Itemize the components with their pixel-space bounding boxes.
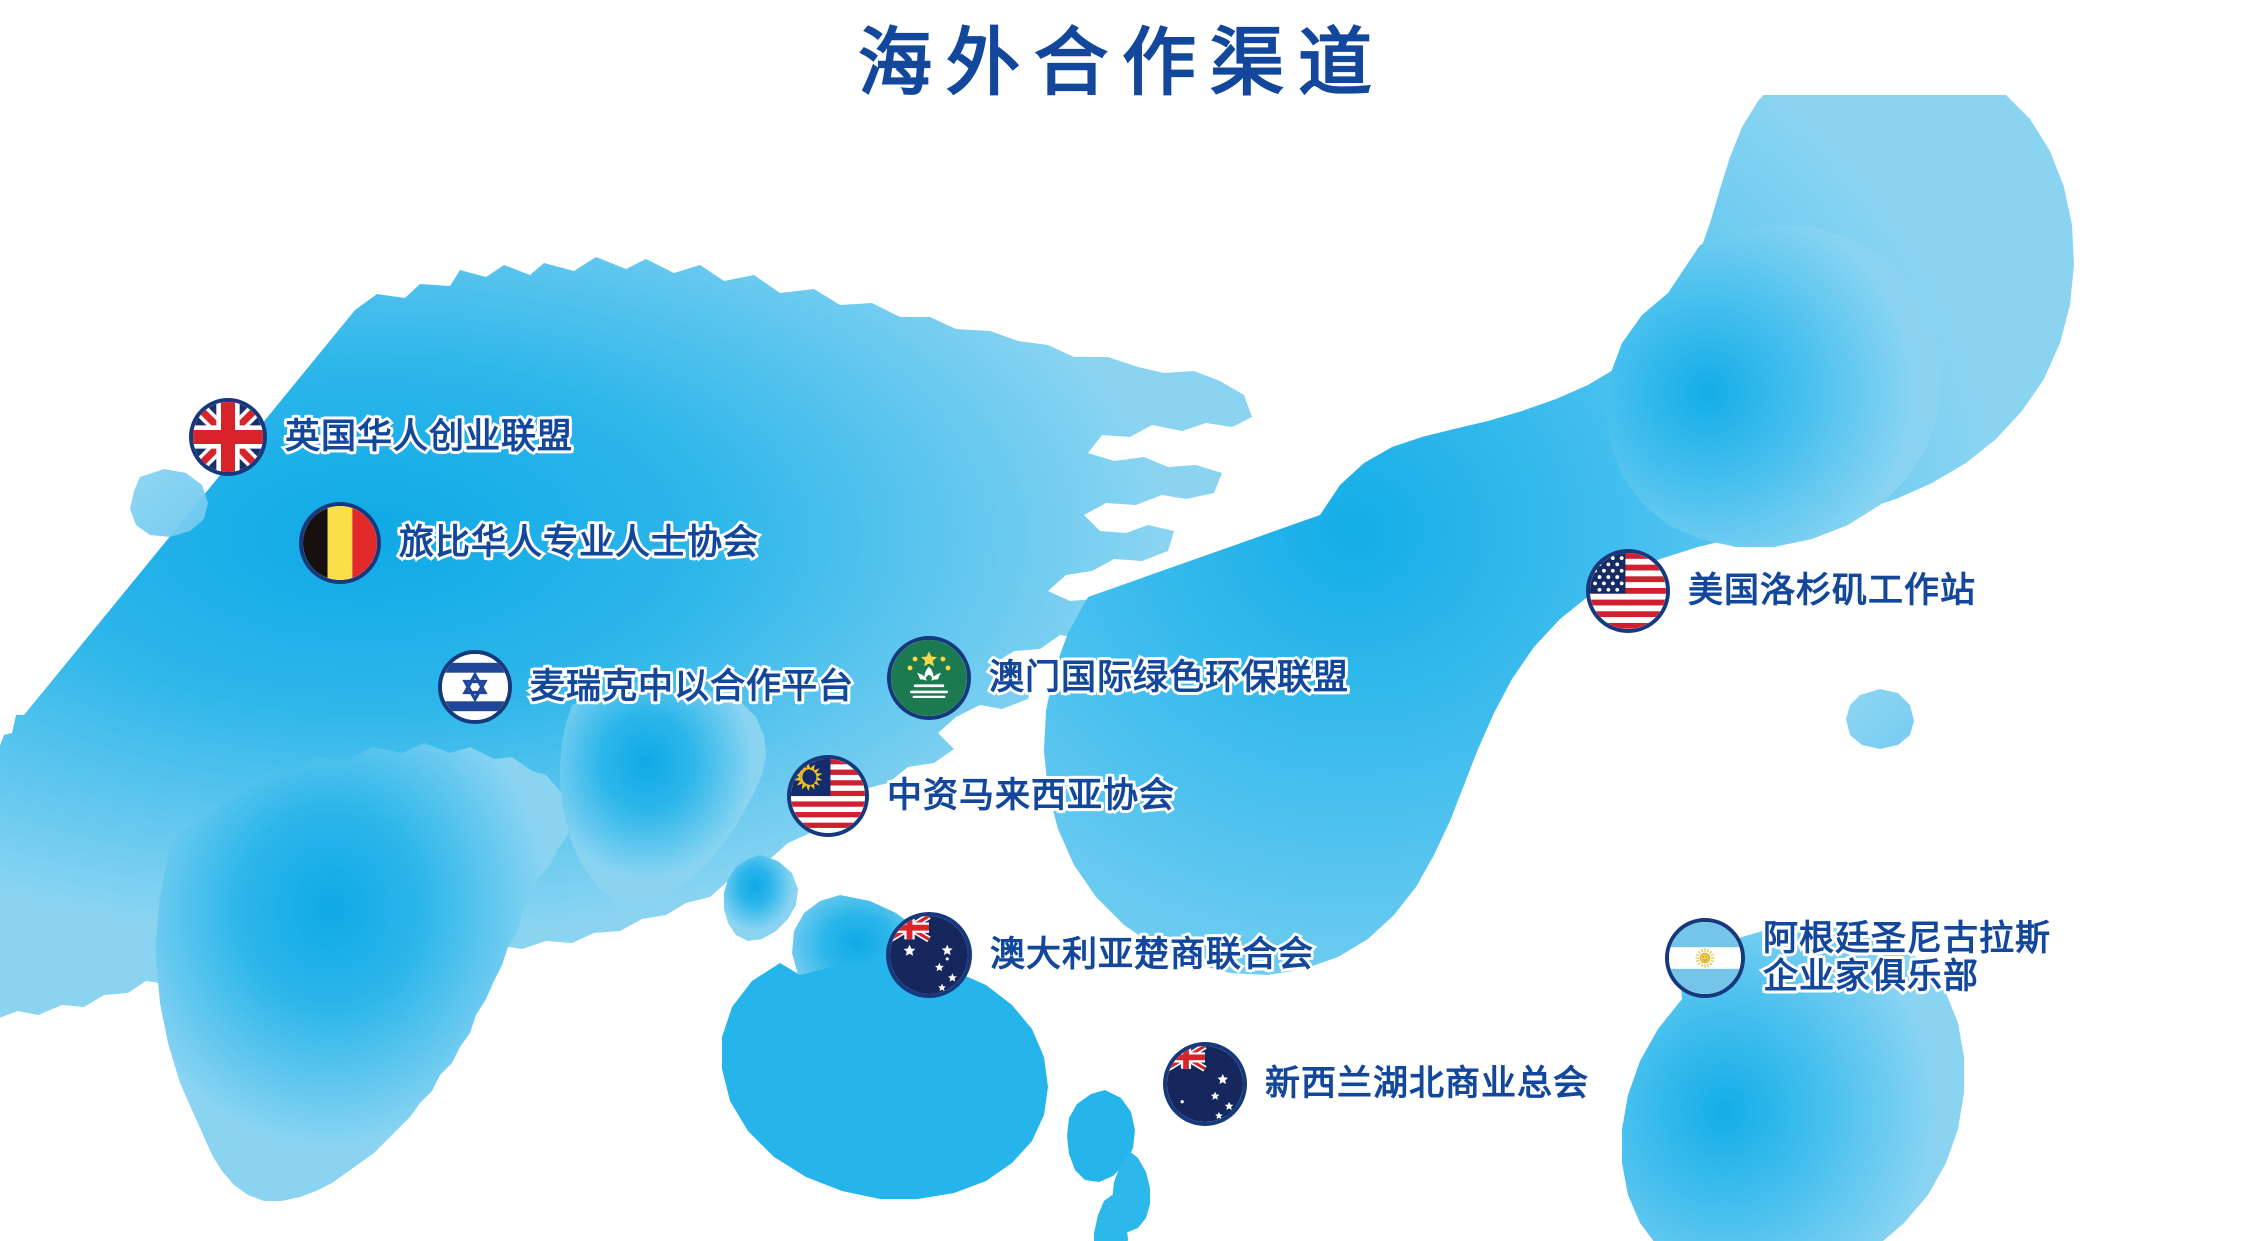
marker-label-belgium: 旅比华人专业人士协会 xyxy=(399,524,759,562)
marker-uk[interactable]: 英国华人创业联盟 xyxy=(189,398,573,476)
marker-label-uk: 英国华人创业联盟 xyxy=(285,418,573,456)
marker-macau[interactable]: 澳门国际绿色环保联盟 xyxy=(887,636,1349,720)
united-states-flag-icon xyxy=(1586,549,1670,633)
macau-flag-icon xyxy=(887,636,971,720)
malaysia-flag-icon xyxy=(787,755,869,837)
marker-label-usa: 美国洛杉矶工作站 xyxy=(1688,572,1976,610)
united-kingdom-flag-icon xyxy=(189,398,267,476)
marker-new-zealand[interactable]: 新西兰湖北商业总会 xyxy=(1163,1042,1589,1126)
marker-label-new-zealand: 新西兰湖北商业总会 xyxy=(1265,1065,1589,1103)
marker-belgium[interactable]: 旅比华人专业人士协会 xyxy=(299,502,759,584)
israel-flag-icon xyxy=(438,650,512,724)
marker-israel[interactable]: 麦瑞克中以合作平台 xyxy=(438,650,854,724)
marker-label-australia: 澳大利亚楚商联合会 xyxy=(990,936,1314,974)
marker-australia[interactable]: 澳大利亚楚商联合会 xyxy=(886,912,1314,998)
marker-usa[interactable]: 美国洛杉矶工作站 xyxy=(1586,549,1976,633)
marker-malaysia[interactable]: 中资马来西亚协会 xyxy=(787,755,1175,837)
marker-label-malaysia: 中资马来西亚协会 xyxy=(887,777,1175,815)
marker-label-israel: 麦瑞克中以合作平台 xyxy=(530,668,854,706)
poster-canvas: 海外合作渠道 xyxy=(0,0,2244,1241)
australia-flag-icon xyxy=(886,912,972,998)
marker-argentina[interactable]: 阿根廷圣尼古拉斯 企业家俱乐部 xyxy=(1665,918,2051,998)
argentina-flag-icon xyxy=(1665,918,1745,998)
belgium-flag-icon xyxy=(299,502,381,584)
page-title: 海外合作渠道 xyxy=(0,22,2244,103)
new-zealand-flag-icon xyxy=(1163,1042,1247,1126)
marker-label-argentina: 阿根廷圣尼古拉斯 企业家俱乐部 xyxy=(1763,920,2051,996)
marker-label-macau: 澳门国际绿色环保联盟 xyxy=(989,659,1349,697)
